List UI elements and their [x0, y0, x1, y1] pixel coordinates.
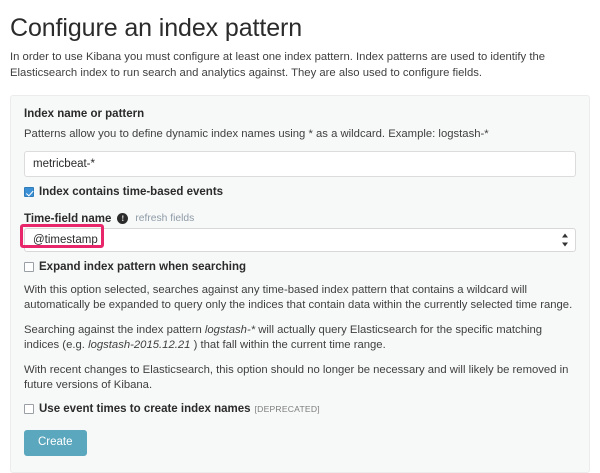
refresh-fields-link[interactable]: refresh fields	[135, 213, 194, 224]
time-based-events-label: Index contains time-based events	[39, 186, 223, 199]
expand-pattern-checkbox[interactable]	[24, 262, 34, 272]
index-name-label: Index name or pattern	[24, 108, 576, 120]
index-pattern-form-panel: Index name or pattern Patterns allow you…	[10, 95, 590, 473]
expand-pattern-label: Expand index pattern when searching	[39, 261, 246, 274]
page-title: Configure an index pattern	[10, 0, 590, 43]
info-icon[interactable]: !	[117, 213, 128, 224]
time-based-events-checkbox[interactable]	[24, 187, 34, 197]
time-based-events-row[interactable]: Index contains time-based events	[24, 186, 576, 199]
index-name-input[interactable]	[24, 151, 576, 177]
page-intro-text: In order to use Kibana you must configur…	[10, 50, 590, 81]
index-name-help-text: Patterns allow you to define dynamic ind…	[24, 127, 576, 143]
time-field-select[interactable]: @timestamp	[24, 228, 576, 252]
expand-pattern-paragraph-2: Searching against the index pattern logs…	[24, 323, 576, 354]
expand-pattern-paragraph-1: With this option selected, searches agai…	[24, 283, 576, 314]
event-times-label: Use event times to create index names	[39, 403, 251, 416]
event-times-row[interactable]: Use event times to create index names [D…	[24, 403, 576, 416]
configure-index-pattern-page: Configure an index pattern In order to u…	[0, 0, 600, 413]
create-button[interactable]: Create	[24, 430, 87, 456]
up-down-stepper-icon[interactable]	[561, 233, 568, 246]
expand-pattern-row[interactable]: Expand index pattern when searching	[24, 261, 576, 274]
para2-part-a: Searching against the index pattern	[24, 324, 205, 336]
expand-pattern-paragraph-3: With recent changes to Elasticsearch, th…	[24, 363, 576, 394]
para2-part-c: ) that fall within the current time rang…	[190, 339, 385, 351]
time-field-label-row: Time-field name ! refresh fields	[24, 213, 576, 225]
para2-emphasis-2: logstash-2015.12.21	[88, 339, 190, 351]
time-field-selected-value: @timestamp	[33, 234, 98, 246]
para2-emphasis-1: logstash-*	[205, 324, 255, 336]
time-field-label: Time-field name	[24, 213, 111, 225]
time-field-select-wrap: @timestamp	[24, 228, 576, 252]
